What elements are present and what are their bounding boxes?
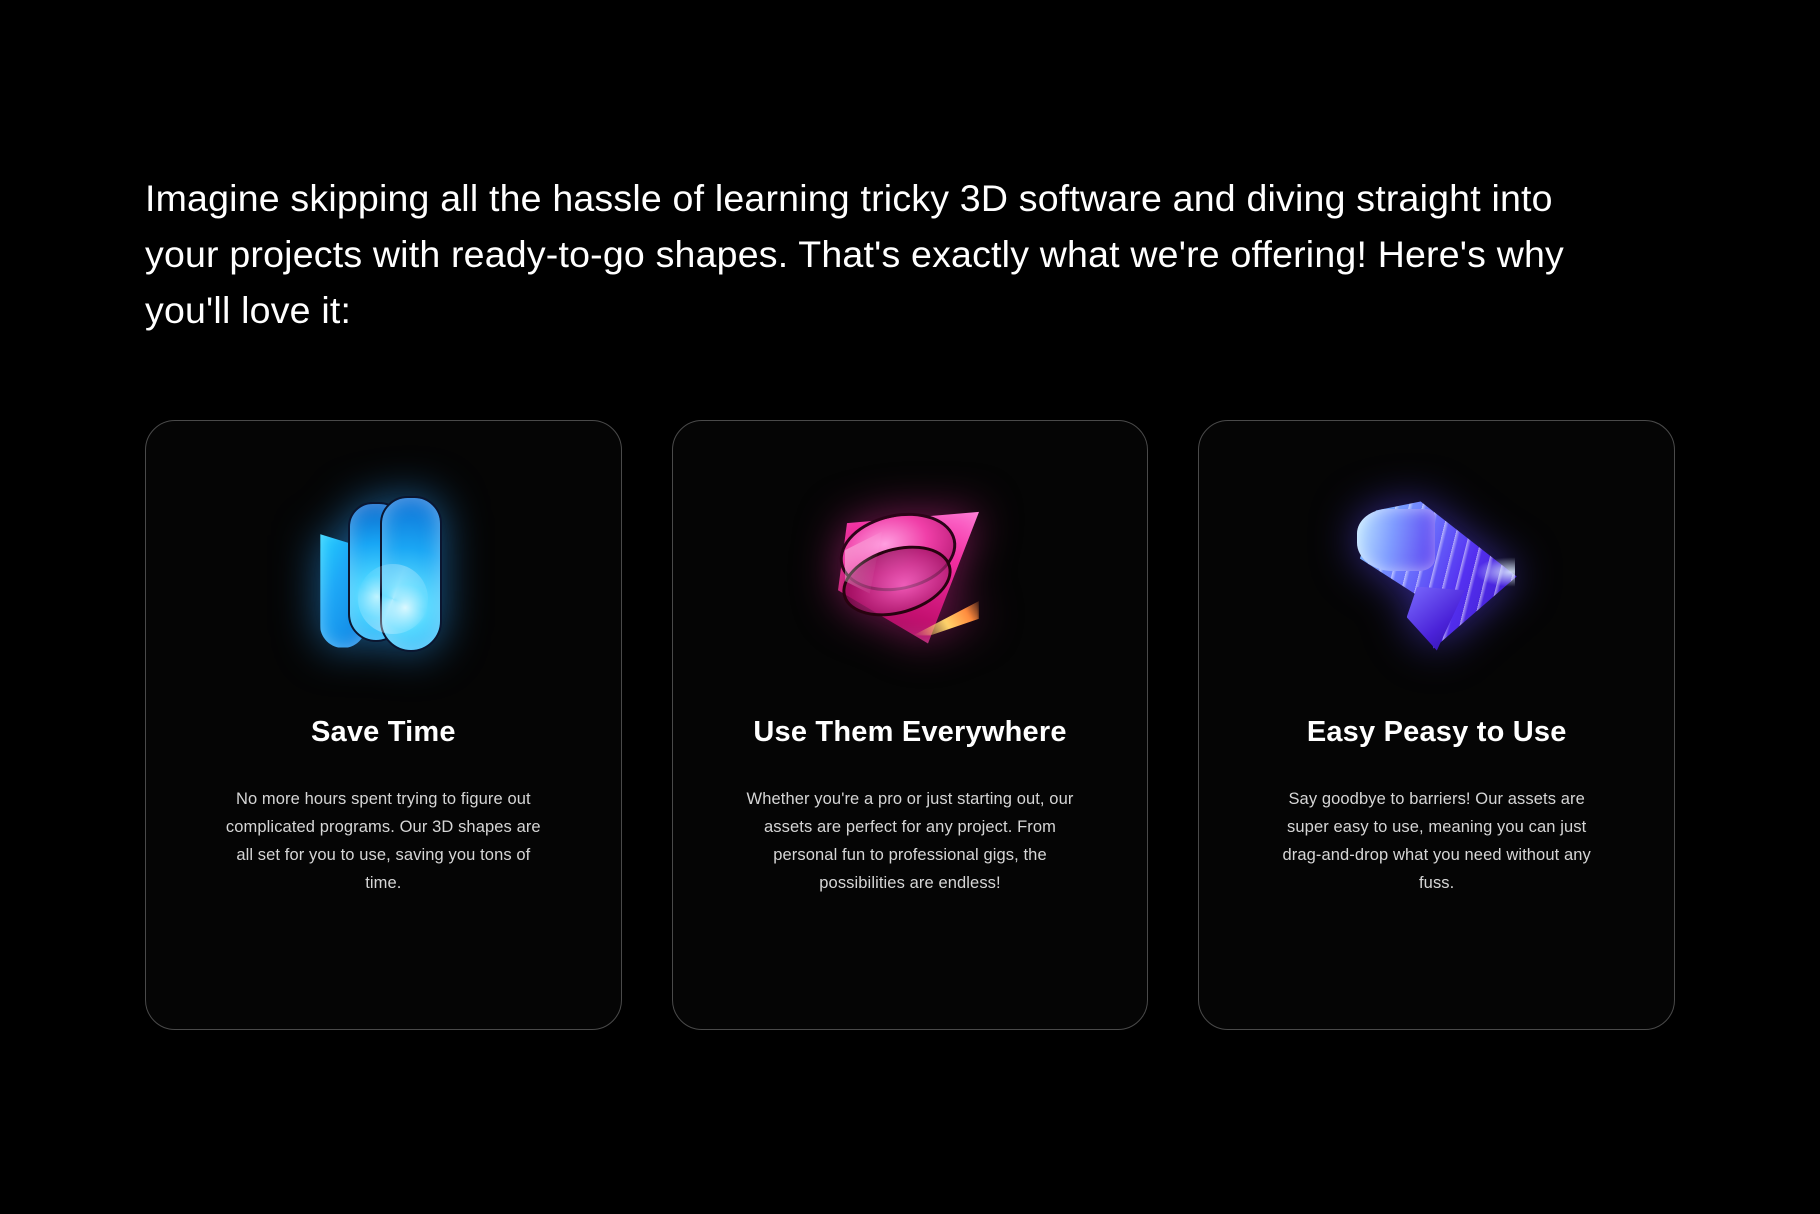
feature-card[interactable]: Use Them Everywhere Whether you're a pro… (672, 420, 1149, 1030)
feature-card-body: No more hours spent trying to figure out… (218, 785, 548, 897)
feature-card[interactable]: Save Time No more hours spent trying to … (145, 420, 622, 1030)
intro-paragraph: Imagine skipping all the hassle of learn… (145, 170, 1615, 338)
feature-card-title: Save Time (311, 714, 456, 751)
icon-shape-part (1357, 509, 1435, 571)
icon-highlight (358, 564, 428, 634)
feature-card-body: Whether you're a pro or just starting ou… (745, 785, 1075, 897)
feature-card[interactable]: Easy Peasy to Use Say goodbye to barrier… (1198, 420, 1675, 1030)
pink-cone-3d-shape-icon (810, 481, 1010, 666)
feature-card-title: Use Them Everywhere (753, 714, 1066, 751)
feature-card-title: Easy Peasy to Use (1307, 714, 1567, 751)
icon-highlight (1475, 557, 1515, 587)
feature-card-body: Say goodbye to barriers! Our assets are … (1272, 785, 1602, 897)
landing-page-section: Imagine skipping all the hassle of learn… (0, 0, 1820, 1214)
blue-tulip-3d-shape-icon (283, 481, 483, 666)
feature-card-list: Save Time No more hours spent trying to … (145, 420, 1675, 1030)
violet-fan-arrow-3d-shape-icon (1337, 481, 1537, 666)
